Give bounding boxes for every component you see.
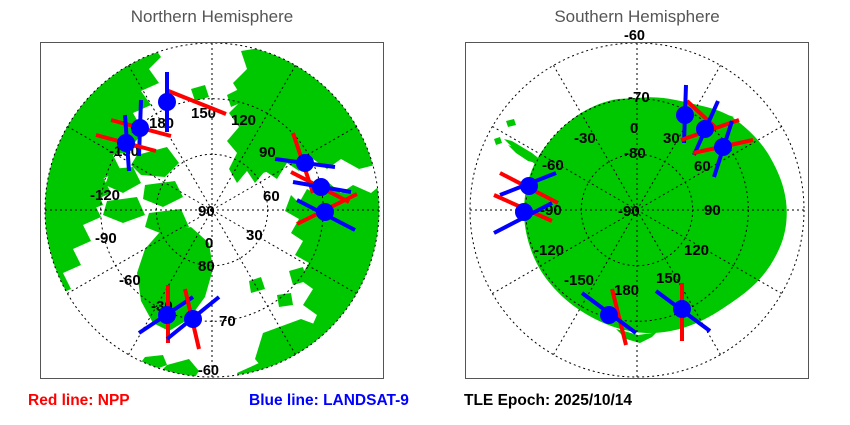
southern-polar-plot: 0 30 60 90 120 150 180 -150 -120 -90 -60… <box>466 43 808 378</box>
svg-text:-90: -90 <box>618 203 640 220</box>
northern-plot-title: Northern Hemisphere <box>40 7 384 27</box>
svg-text:90: 90 <box>704 202 721 219</box>
svg-text:-90: -90 <box>95 230 117 247</box>
svg-text:-120: -120 <box>534 242 564 259</box>
svg-text:30: 30 <box>246 227 263 244</box>
svg-text:60: 60 <box>694 158 711 175</box>
svg-text:-150: -150 <box>564 272 594 289</box>
northern-outer-latitude-label: -60 <box>198 363 219 379</box>
svg-text:90: 90 <box>259 144 276 161</box>
svg-text:180: 180 <box>614 282 639 299</box>
svg-text:150: 150 <box>656 270 681 287</box>
svg-text:90: 90 <box>198 203 215 220</box>
svg-text:120: 120 <box>684 242 709 259</box>
svg-text:120: 120 <box>231 112 256 129</box>
svg-text:80: 80 <box>198 258 215 275</box>
svg-text:0: 0 <box>205 235 213 252</box>
northern-plot-frame: 0 30 60 90 120 150 180 -150 -120 -90 -60… <box>40 42 384 379</box>
legend-blue-line: Blue line: LANDSAT-9 <box>249 392 409 410</box>
legend-row: Red line: NPP Blue line: LANDSAT-9 TLE E… <box>0 392 850 418</box>
svg-text:-60: -60 <box>542 157 564 174</box>
southern-landmass <box>494 97 787 343</box>
legend-red-line: Red line: NPP <box>28 392 130 410</box>
svg-text:60: 60 <box>263 188 280 205</box>
southern-plot-title: Southern Hemisphere <box>465 7 809 27</box>
svg-text:0: 0 <box>630 120 638 137</box>
svg-text:30: 30 <box>663 130 680 147</box>
southern-plot-frame: 0 30 60 90 120 150 180 -150 -120 -90 -60… <box>465 42 809 379</box>
svg-text:-120: -120 <box>90 187 120 204</box>
svg-text:-80: -80 <box>624 145 646 162</box>
svg-text:-70: -70 <box>628 89 650 106</box>
svg-text:-30: -30 <box>574 130 596 147</box>
northern-polar-plot: 0 30 60 90 120 150 180 -150 -120 -90 -60… <box>41 43 383 378</box>
svg-text:-60: -60 <box>119 272 141 289</box>
legend-tle-epoch: TLE Epoch: 2025/10/14 <box>464 392 632 410</box>
svg-text:70: 70 <box>219 313 236 330</box>
